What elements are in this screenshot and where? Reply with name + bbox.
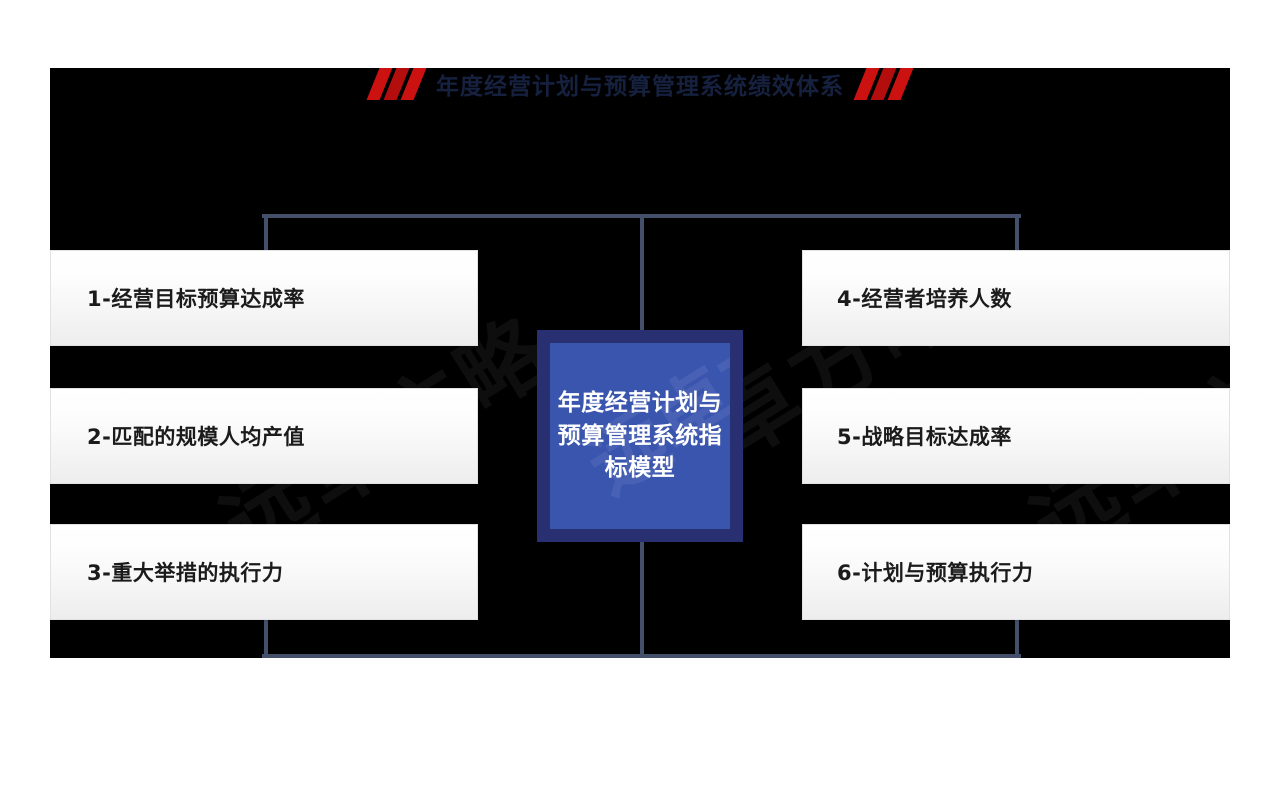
- diagram-stage: 远卓方略 远卓方略 远卓方略 1-经营目标预算达成率 2-匹配的规模人均产值: [50, 68, 1230, 658]
- title-row: 年度经营计划与预算管理系统绩效体系: [0, 62, 1280, 106]
- indicator-card-6-label: 6-计划与预算执行力: [837, 557, 1033, 587]
- center-model-node[interactable]: 远卓方略 年度经营计划与预算管理系统指标模型: [537, 330, 743, 542]
- indicator-card-4[interactable]: 4-经营者培养人数: [802, 250, 1230, 346]
- left-slash-decoration: [373, 68, 420, 100]
- indicator-card-2[interactable]: 2-匹配的规模人均产值: [50, 388, 478, 484]
- indicator-card-4-label: 4-经营者培养人数: [837, 283, 1012, 313]
- indicator-card-5-label: 5-战略目标达成率: [837, 421, 1012, 451]
- indicator-card-2-label: 2-匹配的规模人均产值: [87, 421, 305, 451]
- right-slash-decoration: [860, 68, 907, 100]
- indicator-card-3-label: 3-重大举措的执行力: [87, 557, 283, 587]
- slide-canvas: 远卓方略 远卓方略 远卓方略 1-经营目标预算达成率 2-匹配的规模人均产值: [0, 0, 1280, 804]
- indicator-card-1-label: 1-经营目标预算达成率: [87, 283, 305, 313]
- center-model-node-label: 年度经营计划与预算管理系统指标模型: [550, 387, 730, 485]
- indicator-card-1[interactable]: 1-经营目标预算达成率: [50, 250, 478, 346]
- center-model-node-inner: 远卓方略 年度经营计划与预算管理系统指标模型: [550, 343, 730, 529]
- indicator-card-3[interactable]: 3-重大举措的执行力: [50, 524, 478, 620]
- page-title: 年度经营计划与预算管理系统绩效体系: [436, 67, 844, 101]
- indicator-card-5[interactable]: 5-战略目标达成率: [802, 388, 1230, 484]
- indicator-card-6[interactable]: 6-计划与预算执行力: [802, 524, 1230, 620]
